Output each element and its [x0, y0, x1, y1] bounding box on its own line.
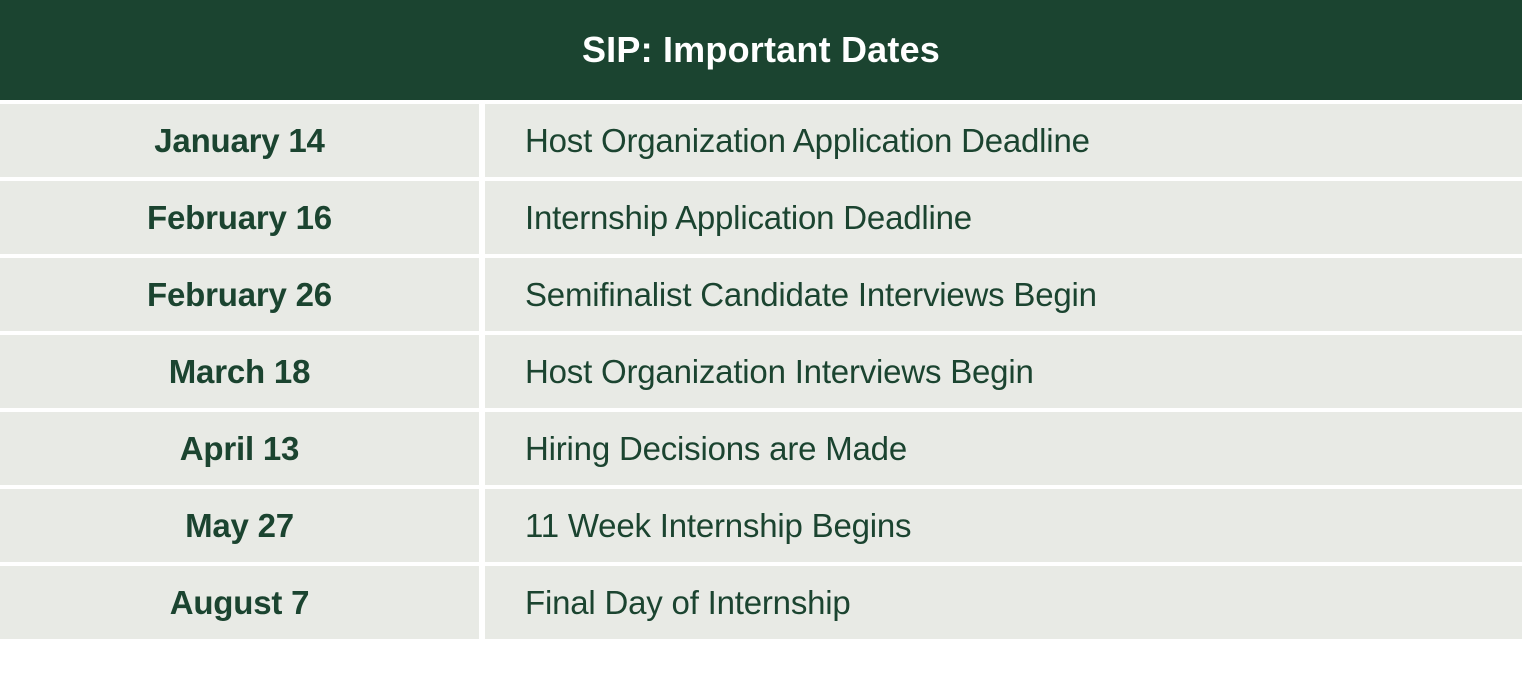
date-cell: August 7: [0, 566, 479, 639]
page-title: SIP: Important Dates: [582, 32, 940, 68]
table-row: March 18 Host Organization Interviews Be…: [0, 335, 1522, 408]
event-cell: Hiring Decisions are Made: [485, 412, 1522, 485]
date-cell: January 14: [0, 104, 479, 177]
table-row: February 16 Internship Application Deadl…: [0, 181, 1522, 254]
table-header-banner: SIP: Important Dates: [0, 0, 1522, 100]
important-dates-table: SIP: Important Dates January 14 Host Org…: [0, 0, 1522, 699]
table-row: April 13 Hiring Decisions are Made: [0, 412, 1522, 485]
date-cell: February 16: [0, 181, 479, 254]
date-cell: February 26: [0, 258, 479, 331]
table-body: January 14 Host Organization Application…: [0, 100, 1522, 639]
table-row: February 26 Semifinalist Candidate Inter…: [0, 258, 1522, 331]
event-cell: Final Day of Internship: [485, 566, 1522, 639]
event-cell: Host Organization Interviews Begin: [485, 335, 1522, 408]
event-cell: 11 Week Internship Begins: [485, 489, 1522, 562]
table-row: May 27 11 Week Internship Begins: [0, 489, 1522, 562]
date-cell: May 27: [0, 489, 479, 562]
event-cell: Host Organization Application Deadline: [485, 104, 1522, 177]
date-cell: April 13: [0, 412, 479, 485]
table-row: August 7 Final Day of Internship: [0, 566, 1522, 639]
event-cell: Semifinalist Candidate Interviews Begin: [485, 258, 1522, 331]
event-cell: Internship Application Deadline: [485, 181, 1522, 254]
footer-whitespace: [0, 639, 1522, 699]
date-cell: March 18: [0, 335, 479, 408]
table-row: January 14 Host Organization Application…: [0, 104, 1522, 177]
